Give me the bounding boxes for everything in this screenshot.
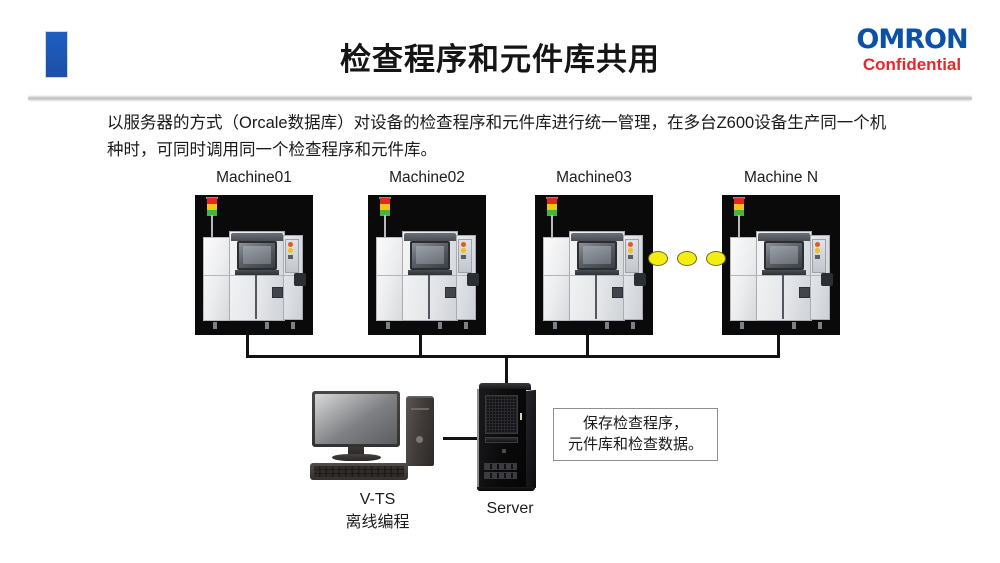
machine-foot [265, 322, 269, 329]
machine-label: Machine03 [556, 169, 632, 187]
server-vent [484, 472, 517, 479]
machine-photo [368, 195, 486, 335]
connector-machine-2 [419, 335, 422, 357]
machine-panel-seam [730, 275, 830, 276]
connector-bus-to-server [505, 355, 508, 385]
machine-display-icon [237, 241, 277, 270]
machine-foot [792, 322, 796, 329]
machine-photo [195, 195, 313, 335]
machine-access-hatch [799, 287, 810, 298]
body-paragraph: 以服务器的方式（Orcale数据库）对设备的检查程序和元件库进行统一管理，在多台… [107, 110, 897, 163]
machine-access-hatch [272, 287, 283, 298]
desktop-tower-slot [411, 408, 429, 410]
connector-pc-to-server [443, 437, 479, 440]
machine-foot [553, 322, 557, 329]
machine-panel-seam [543, 275, 643, 276]
machine-door-seam [255, 275, 257, 319]
machine-button-yellow-icon [461, 248, 466, 253]
machine-button-red-icon [815, 242, 820, 247]
machine-photo [535, 195, 653, 335]
slide-root: 检查程序和元件库共用 OMRON Confidential 以服务器的方式（Or… [0, 0, 1000, 563]
machine-foot [631, 322, 635, 329]
machine-door-seam [782, 275, 784, 319]
machine-display-icon [577, 241, 617, 270]
brand-name: OMRON [842, 26, 982, 53]
machine-hood [231, 233, 283, 241]
machine-portal [821, 273, 833, 286]
machine-access-hatch [445, 287, 456, 298]
vts-label-line1: V-TS [300, 488, 455, 511]
header-divider [28, 95, 972, 102]
ellipsis-dot-icon [706, 251, 726, 266]
keyboard-icon [310, 463, 408, 480]
machine-label: Machine N [744, 169, 818, 187]
machine-door-seam [595, 275, 597, 319]
machine-foot [213, 322, 217, 329]
machine-node-2: Machine02 [368, 195, 486, 335]
machine-panel-seam [376, 275, 476, 276]
server-mesh-grille [485, 395, 518, 434]
machine-panel-seam [203, 275, 303, 276]
machine-button-dark-icon [628, 255, 633, 259]
machine-button-dark-icon [288, 255, 293, 259]
server-base [477, 487, 535, 491]
connector-machine-3 [586, 335, 589, 357]
machine-left-cabinet [376, 237, 404, 321]
machine-portal [467, 273, 479, 286]
machine-foot [438, 322, 442, 329]
callout-line1: 保存检查程序， [568, 414, 703, 435]
machine-foot [818, 322, 822, 329]
machine-node-1: Machine01 [195, 195, 313, 335]
connector-machine-1 [246, 335, 249, 357]
desktop-power-button-icon [416, 436, 423, 443]
server-icon [476, 383, 538, 491]
ellipsis-dot-icon [677, 251, 697, 266]
machine-button-yellow-icon [288, 248, 293, 253]
machine-portal [634, 273, 646, 286]
machine-foot [464, 322, 468, 329]
machine-foot [386, 322, 390, 329]
confidential-label: Confidential [842, 54, 982, 75]
ellipsis-dot-icon [648, 251, 668, 266]
server-status-led-icon [520, 413, 522, 420]
machine-foot [605, 322, 609, 329]
ellipsis-dots [648, 251, 726, 266]
network-bus-line [246, 355, 780, 358]
connector-machine-n [777, 335, 780, 357]
omron-logo: OMRON Confidential [842, 26, 982, 75]
machine-button-red-icon [628, 242, 633, 247]
machine-display-icon [764, 241, 804, 270]
machine-node-3: Machine03 [535, 195, 653, 335]
vts-workstation [310, 390, 445, 485]
monitor-icon [312, 391, 400, 447]
machine-access-hatch [612, 287, 623, 298]
machine-foot [291, 322, 295, 329]
machine-left-cabinet [730, 237, 758, 321]
machine-foot [740, 322, 744, 329]
machine-label: Machine01 [216, 169, 292, 187]
server-vent [484, 463, 517, 470]
machine-left-cabinet [203, 237, 231, 321]
machine-hood [404, 233, 456, 241]
machine-left-cabinet [543, 237, 571, 321]
callout-box: 保存检查程序， 元件库和检查数据。 [553, 408, 718, 461]
machine-button-red-icon [288, 242, 293, 247]
machine-button-red-icon [461, 242, 466, 247]
machine-button-yellow-icon [815, 248, 820, 253]
server-power-button-icon [502, 449, 506, 453]
callout-line2: 元件库和检查数据。 [568, 435, 703, 456]
machine-label: Machine02 [389, 169, 465, 187]
machine-door-seam [428, 275, 430, 319]
server-label: Server [455, 497, 565, 520]
server-side-panel [525, 390, 536, 489]
machine-node-n: Machine N [722, 195, 840, 335]
server-drive-bay [485, 437, 518, 443]
vts-label-line2: 离线编程 [300, 511, 455, 534]
machine-portal [294, 273, 306, 286]
machine-hood [758, 233, 810, 241]
machine-button-dark-icon [815, 255, 820, 259]
machine-photo [722, 195, 840, 335]
machine-button-yellow-icon [628, 248, 633, 253]
machine-display-icon [410, 241, 450, 270]
callout-text: 保存检查程序， 元件库和检查数据。 [568, 414, 703, 455]
monitor-stand-base [332, 454, 381, 461]
machine-hood [571, 233, 623, 241]
machine-button-dark-icon [461, 255, 466, 259]
vts-label: V-TS 离线编程 [300, 488, 455, 534]
